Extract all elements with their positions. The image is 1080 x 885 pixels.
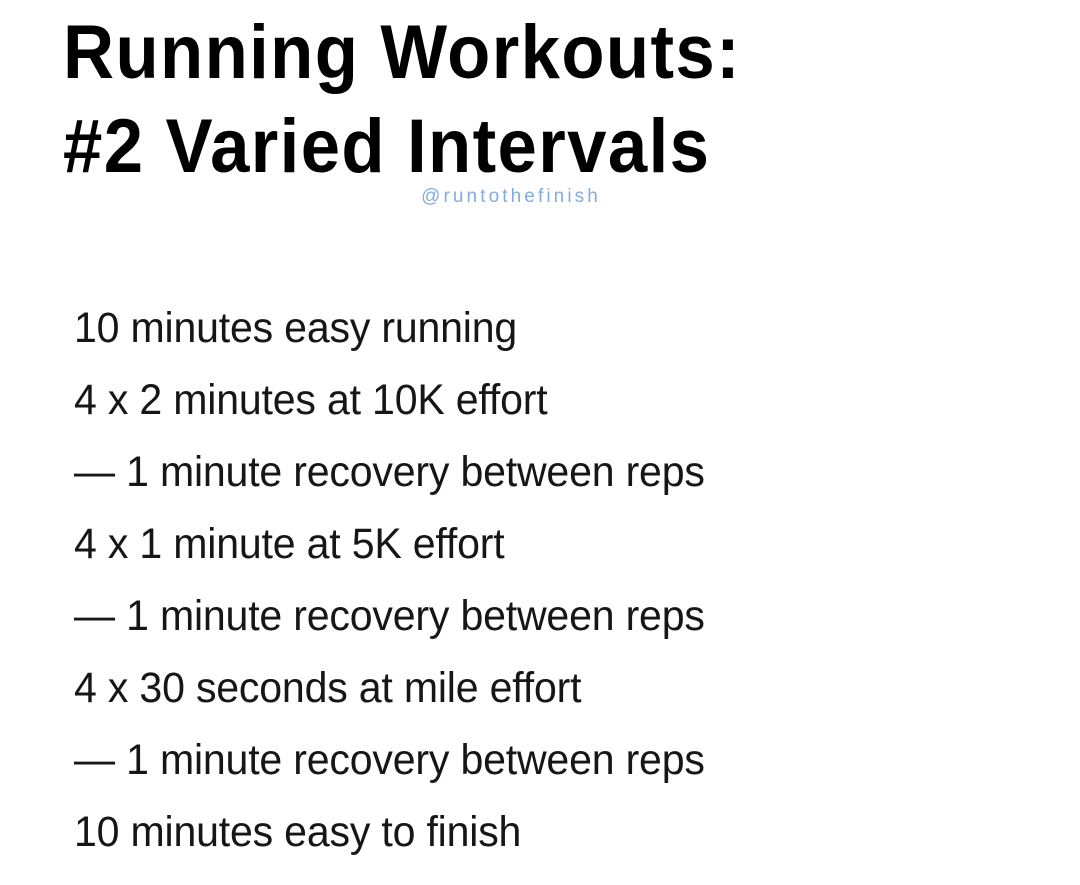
workout-step-list: 10 minutes easy running 4 x 2 minutes at… (74, 292, 1034, 868)
list-item: 4 x 30 seconds at mile effort (74, 652, 991, 724)
list-item: — 1 minute recovery between reps (74, 724, 991, 796)
list-item: 4 x 2 minutes at 10K effort (74, 364, 991, 436)
list-item: — 1 minute recovery between reps (74, 436, 991, 508)
title-block: Running Workouts: #2 Varied Intervals (63, 6, 1023, 194)
workout-graphic: Running Workouts: #2 Varied Intervals @r… (0, 0, 1080, 885)
author-handle: @runtothefinish (0, 186, 1022, 208)
list-item: 10 minutes easy running (74, 292, 991, 364)
page-title-line-1: Running Workouts: (63, 6, 956, 100)
list-item: 4 x 1 minute at 5K effort (74, 508, 991, 580)
list-item: — 1 minute recovery between reps (74, 580, 991, 652)
page-title-line-2: #2 Varied Intervals (63, 100, 956, 194)
list-item: 10 minutes easy to finish (74, 796, 991, 868)
